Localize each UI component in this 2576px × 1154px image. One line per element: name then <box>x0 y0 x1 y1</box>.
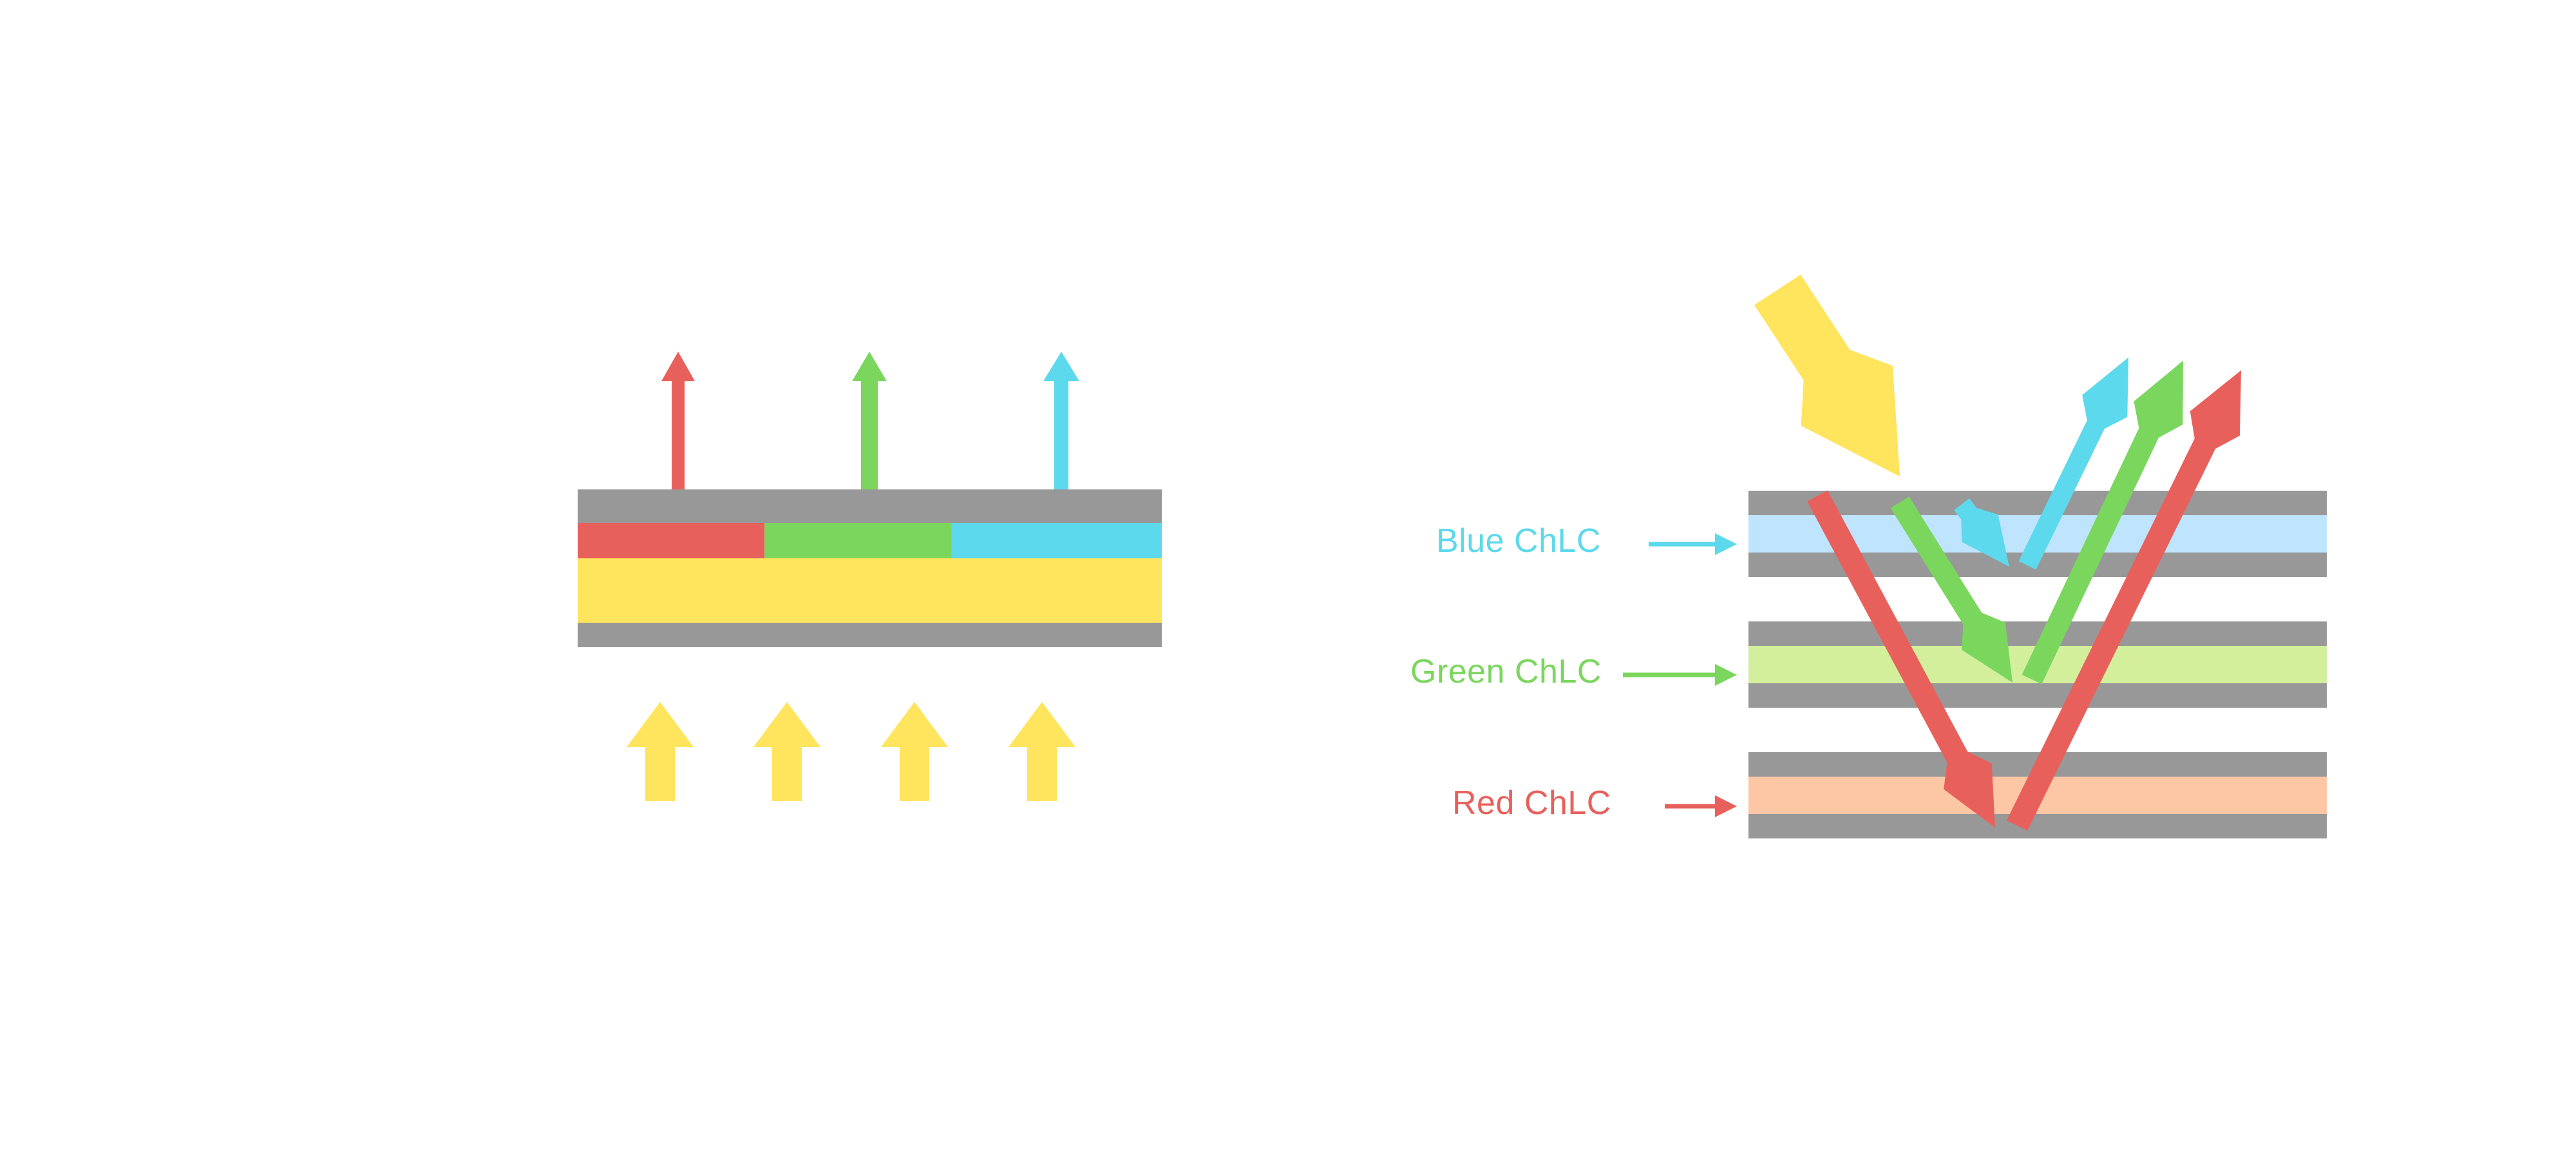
diagram-canvas: Blue ChLC Green ChLC Red ChLC <box>0 0 2576 1154</box>
red-chlc-cell-pointer-shaft <box>1665 804 1720 809</box>
label-green-chlc: Green ChLC <box>1410 655 1602 688</box>
label-blue-chlc: Blue ChLC <box>1436 524 1601 558</box>
green-chlc-cell-pointer-head <box>1715 664 1737 686</box>
red-chlc-cell-bottom-substrate <box>1748 814 2327 838</box>
incident-white-light-arrow <box>1754 274 1900 477</box>
label-red-chlc: Red ChLC <box>1452 786 1611 820</box>
red-chlc-cell-pointer-head <box>1715 795 1737 817</box>
green-chlc-cell-pointer-shaft <box>1623 673 1720 677</box>
blue-chlc-cell-pointer-head <box>1715 533 1737 555</box>
green-chlc-cell-bottom-substrate <box>1748 683 2327 708</box>
right-panel-graphics <box>0 0 2576 1154</box>
blue-chlc-cell-pointer-shaft <box>1649 542 1720 547</box>
